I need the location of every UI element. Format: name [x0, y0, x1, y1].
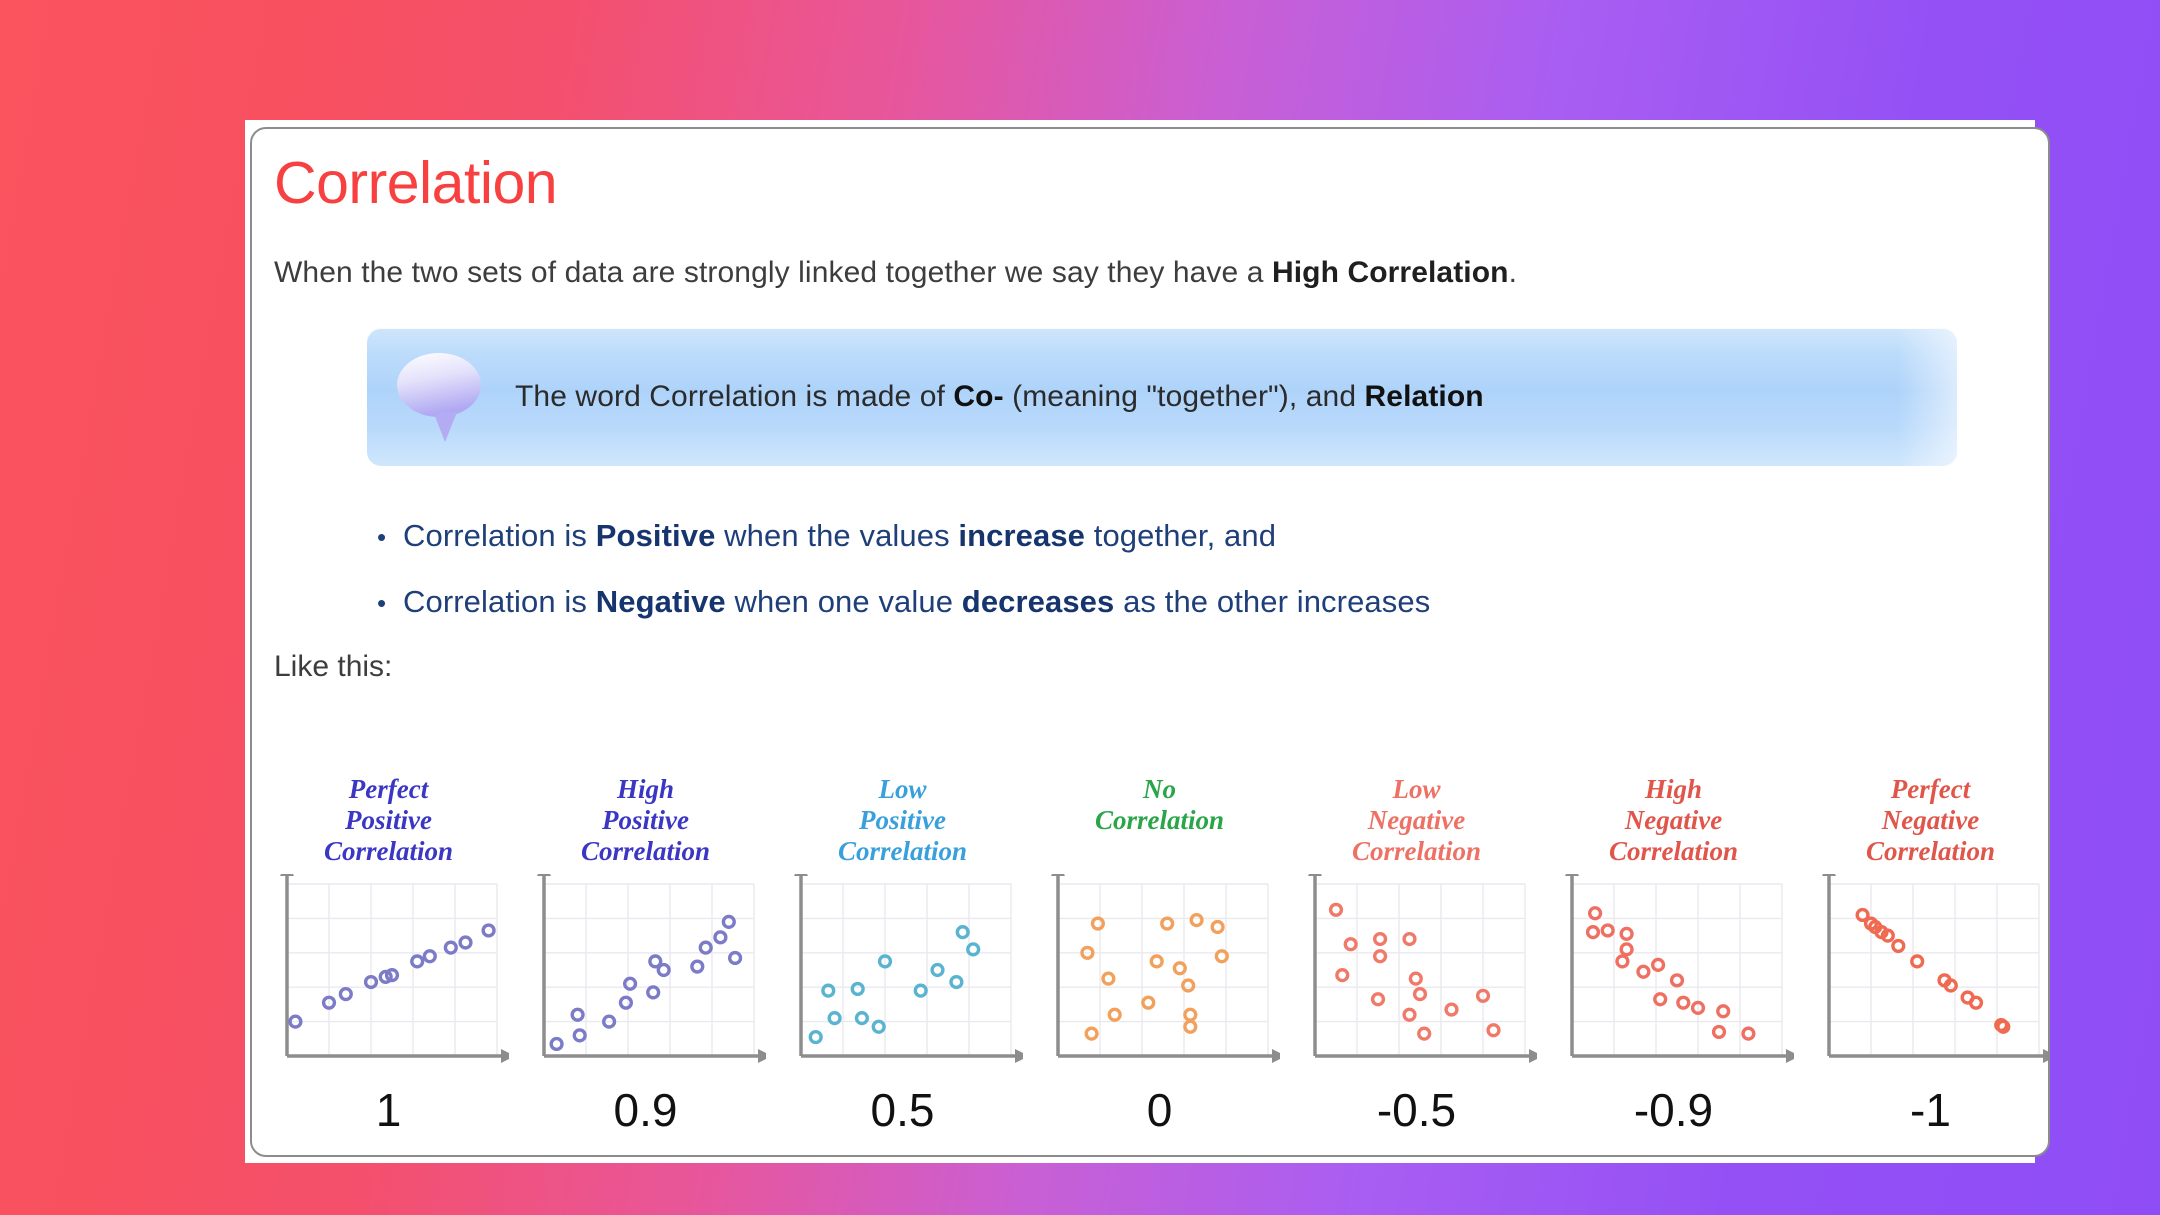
data-point	[551, 1039, 562, 1050]
data-point	[723, 916, 734, 927]
data-point	[647, 987, 658, 998]
chart-panel-label: Perfect Negative Correlation	[1866, 774, 1995, 874]
note-bold2: Relation	[1365, 380, 1484, 413]
data-point	[1654, 994, 1665, 1005]
data-point	[1446, 1004, 1457, 1015]
data-point	[915, 985, 926, 996]
data-point	[715, 932, 726, 943]
data-point	[1184, 1021, 1195, 1032]
chart-panel-label: High Negative Correlation	[1609, 774, 1738, 874]
chart-panel-value: 0	[1147, 1083, 1173, 1137]
data-point	[1743, 1028, 1754, 1039]
bullet-bold1: Positive	[596, 518, 716, 553]
data-point	[424, 951, 435, 962]
data-point	[729, 953, 740, 964]
like-this-label: Like this:	[274, 650, 2012, 684]
intro-text-before: When the two sets of data are strongly l…	[274, 256, 1272, 289]
speech-bubble-icon	[385, 342, 497, 452]
chart-panel-value: 0.9	[614, 1083, 678, 1137]
data-point	[1671, 975, 1682, 986]
chart-panel-value: 0.5	[871, 1083, 935, 1137]
data-point	[932, 965, 943, 976]
scatter-plot	[1297, 874, 1537, 1089]
data-point	[1488, 1025, 1499, 1036]
data-point	[1945, 980, 1956, 991]
bullet-part1: Correlation is	[403, 518, 596, 553]
chart-panel-label: Low Positive Correlation	[838, 774, 967, 874]
data-point	[1652, 959, 1663, 970]
chart-panel-value: 1	[376, 1083, 402, 1137]
data-point	[1404, 934, 1415, 945]
data-point	[691, 961, 702, 972]
bullet-bold1: Negative	[596, 584, 726, 619]
correlation-chart-strip: Perfect Positive Correlation1High Positi…	[260, 774, 2050, 1137]
data-point	[1182, 980, 1193, 991]
data-point	[1161, 918, 1172, 929]
scatter-plot	[1554, 874, 1794, 1089]
data-point	[1602, 925, 1613, 936]
data-point	[1621, 928, 1632, 939]
data-point	[1330, 904, 1341, 915]
data-point	[483, 925, 494, 936]
data-point	[574, 1030, 585, 1041]
chart-panel-value: -0.9	[1634, 1083, 1713, 1137]
data-point	[1713, 1027, 1724, 1038]
data-point	[1414, 989, 1425, 1000]
note-text: The word Correlation is made of Co- (mea…	[515, 380, 1484, 414]
scatter-plot	[1811, 874, 2051, 1089]
data-point	[1372, 994, 1383, 1005]
data-point	[1374, 951, 1385, 962]
data-point	[873, 1021, 884, 1032]
data-point	[829, 1013, 840, 1024]
data-point	[1997, 1021, 2008, 1032]
data-point	[1617, 956, 1628, 967]
data-point	[1109, 1009, 1120, 1020]
data-point	[1621, 944, 1632, 955]
data-point	[822, 985, 833, 996]
data-point	[1404, 1009, 1415, 1020]
scatter-plot	[269, 874, 509, 1089]
chart-panel-value: -0.5	[1377, 1083, 1456, 1137]
note-part2: (meaning "together"), and	[1004, 380, 1365, 413]
chart-panel: Perfect Positive Correlation1	[260, 774, 517, 1137]
scatter-plot	[783, 874, 1023, 1089]
data-point	[852, 984, 863, 995]
data-point	[810, 1032, 821, 1043]
scatter-plot	[1040, 874, 1280, 1089]
bullet-part3: as the other increases	[1114, 584, 1430, 619]
data-point	[1911, 956, 1922, 967]
note-part1: The word Correlation is made of	[515, 380, 953, 413]
chart-panel: High Positive Correlation0.9	[517, 774, 774, 1137]
data-point	[1677, 997, 1688, 1008]
data-point	[951, 977, 962, 988]
data-point	[1418, 1028, 1429, 1039]
page-title: Correlation	[274, 153, 2012, 215]
data-point	[445, 942, 456, 953]
data-point	[1374, 934, 1385, 945]
data-point	[1892, 941, 1903, 952]
data-point	[624, 978, 635, 989]
chart-panel: Low Positive Correlation0.5	[774, 774, 1031, 1137]
bullet-part3: together, and	[1085, 518, 1276, 553]
data-point	[1589, 908, 1600, 919]
scatter-plot	[526, 874, 766, 1089]
data-point	[700, 942, 711, 953]
data-point	[460, 937, 471, 948]
intro-text-bold: High Correlation	[1272, 256, 1509, 289]
data-point	[411, 956, 422, 967]
data-point	[1970, 997, 1981, 1008]
data-point	[1216, 951, 1227, 962]
chart-panel-label: Low Negative Correlation	[1352, 774, 1481, 874]
data-point	[1638, 966, 1649, 977]
lesson-card: Correlation When the two sets of data ar…	[250, 127, 2050, 1157]
data-point	[1587, 927, 1598, 938]
chart-panel-label: Perfect Positive Correlation	[324, 774, 453, 874]
bullet-bold2: decreases	[962, 584, 1115, 619]
chart-panel-value: -1	[1910, 1083, 1951, 1137]
list-item: • Correlation is Positive when the value…	[377, 518, 2012, 554]
chart-panel: Low Negative Correlation-0.5	[1288, 774, 1545, 1137]
bullet-text: Correlation is Positive when the values …	[403, 518, 1276, 554]
note-callout: The word Correlation is made of Co- (mea…	[367, 328, 1957, 466]
note-bold1: Co-	[953, 380, 1003, 413]
card-content: Correlation When the two sets of data ar…	[252, 129, 2050, 1157]
chart-panel: Perfect Negative Correlation-1	[1802, 774, 2050, 1137]
data-point	[1717, 1006, 1728, 1017]
bullet-part2: when the values	[715, 518, 958, 553]
data-point	[967, 944, 978, 955]
data-point	[1086, 1028, 1097, 1039]
data-point	[572, 1009, 583, 1020]
bullet-text: Correlation is Negative when one value d…	[403, 584, 1430, 620]
data-point	[1151, 956, 1162, 967]
data-point	[957, 927, 968, 938]
bullet-part2: when one value	[726, 584, 962, 619]
data-point	[658, 965, 669, 976]
data-point	[1092, 918, 1103, 929]
bullet-part1: Correlation is	[403, 584, 596, 619]
intro-text-after: .	[1509, 256, 1517, 289]
data-point	[1345, 939, 1356, 950]
chart-panel: High Negative Correlation-0.9	[1545, 774, 1802, 1137]
chart-panel: No Correlation0	[1031, 774, 1288, 1137]
data-point	[340, 989, 351, 1000]
bullet-bold2: increase	[958, 518, 1085, 553]
data-point	[620, 997, 631, 1008]
data-point	[1410, 973, 1421, 984]
chart-panel-label: No Correlation	[1095, 774, 1224, 874]
chart-panel-label: High Positive Correlation	[581, 774, 710, 874]
data-point	[1142, 997, 1153, 1008]
bullet-list: • Correlation is Positive when the value…	[377, 518, 2012, 620]
intro-paragraph: When the two sets of data are strongly l…	[274, 253, 2012, 292]
list-item: • Correlation is Negative when one value…	[377, 584, 2012, 620]
data-point	[1336, 970, 1347, 981]
bullet-dot-icon: •	[377, 590, 403, 616]
data-point	[1882, 930, 1893, 941]
data-point	[1191, 915, 1202, 926]
data-point	[856, 1013, 867, 1024]
data-point	[1184, 1009, 1195, 1020]
data-point	[1103, 973, 1114, 984]
data-point	[1212, 922, 1223, 933]
bullet-dot-icon: •	[377, 524, 403, 550]
data-point	[1174, 963, 1185, 974]
